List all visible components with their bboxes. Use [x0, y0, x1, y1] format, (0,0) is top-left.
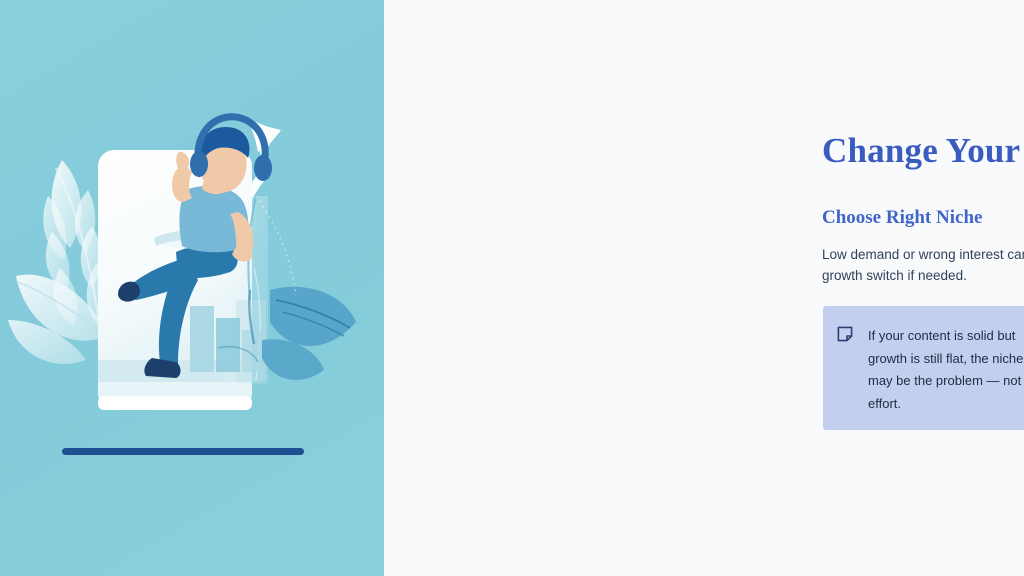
white-leaves — [8, 160, 108, 364]
section-body-text: Low demand or wrong interest can stop gr… — [822, 244, 1024, 286]
page-title: Change Your Niche if Needed — [822, 131, 1024, 171]
slide: Change Your Niche if Needed Choose Right… — [0, 0, 1024, 576]
note-corner-icon — [837, 326, 853, 342]
page-title-primary: Change Your Niche — [822, 131, 1024, 170]
callout-box: If your content is solid but growth is s… — [823, 306, 1024, 430]
callout-text: If your content is solid but growth is s… — [868, 325, 1024, 415]
illustration-graphic — [0, 0, 384, 576]
section-subheading: Choose Right Niche — [822, 207, 982, 229]
content-area: Change Your Niche if Needed Choose Right… — [384, 0, 1024, 576]
ground-bar — [62, 448, 304, 455]
illustration-panel — [0, 0, 384, 576]
